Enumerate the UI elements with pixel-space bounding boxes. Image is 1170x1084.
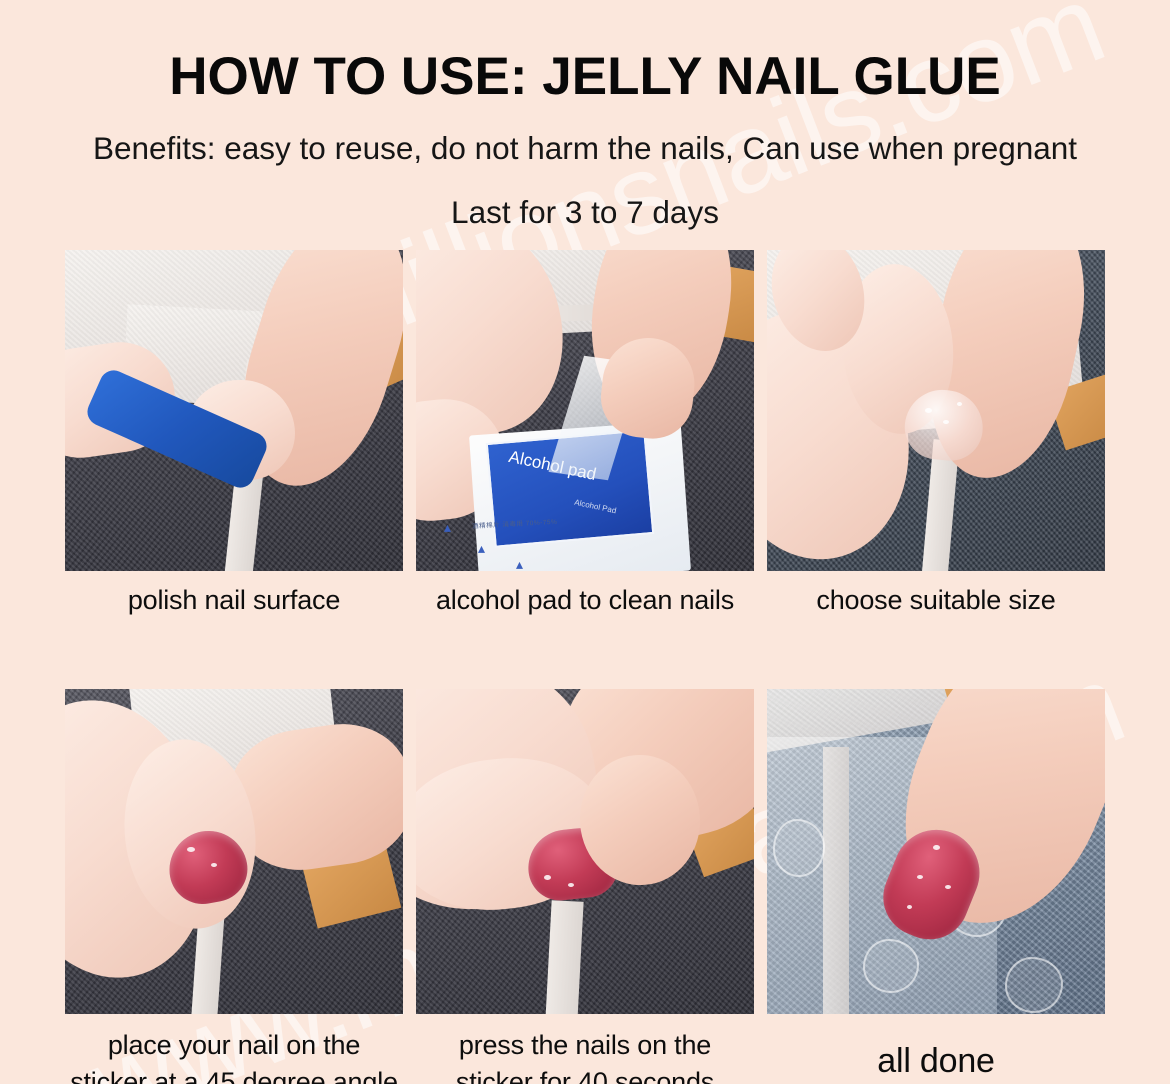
step-caption-4-line1: place your nail on the xyxy=(108,1014,360,1063)
step-caption-5-line2: sticker for 40 seconds xyxy=(456,1063,714,1084)
step-card-1: polish nail surface xyxy=(65,250,403,618)
steps-grid: polish nail surface Alcohol pad Alcohol … xyxy=(0,250,1170,1084)
infographic-page: www.millionsnails.com www.millionsnails.… xyxy=(0,0,1170,1084)
step-card-6: all done xyxy=(767,689,1105,1084)
step-caption-5-line1: press the nails on the xyxy=(459,1014,711,1063)
step-photo-2: Alcohol pad Alcohol Pad 酒精棉片 消毒用 70%-75% xyxy=(416,250,754,571)
step-caption-1: polish nail surface xyxy=(128,571,340,618)
step-caption-2: alcohol pad to clean nails xyxy=(436,571,734,618)
duration-text: Last for 3 to 7 days xyxy=(0,195,1170,230)
step-photo-1 xyxy=(65,250,403,571)
step-caption-6: all done xyxy=(877,1014,995,1084)
step-caption-3: choose suitable size xyxy=(816,571,1055,618)
step-caption-4-line2: sticker at a 45 degree angle xyxy=(70,1063,398,1084)
step-card-4: place your nail on the sticker at a 45 d… xyxy=(65,689,403,1084)
step-photo-6 xyxy=(767,689,1105,1014)
step-photo-4 xyxy=(65,689,403,1014)
page-title: HOW TO USE: JELLY NAIL GLUE xyxy=(0,0,1170,105)
benefits-text: Benefits: easy to reuse, do not harm the… xyxy=(0,131,1170,166)
step-card-2: Alcohol pad Alcohol Pad 酒精棉片 消毒用 70%-75%… xyxy=(416,250,754,618)
step-card-3: choose suitable size xyxy=(767,250,1105,618)
step-card-5: press the nails on the sticker for 40 se… xyxy=(416,689,754,1084)
step-photo-5 xyxy=(416,689,754,1014)
step-photo-3 xyxy=(767,250,1105,571)
header: HOW TO USE: JELLY NAIL GLUE Benefits: ea… xyxy=(0,0,1170,230)
